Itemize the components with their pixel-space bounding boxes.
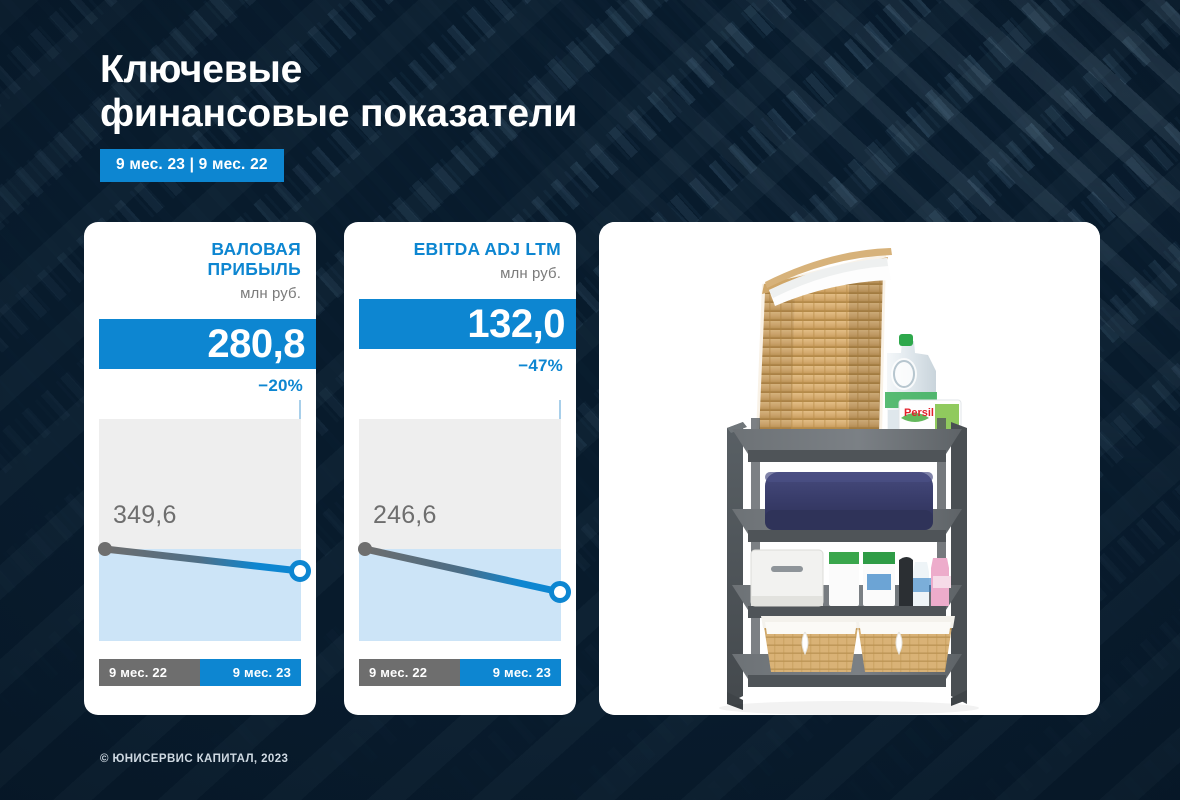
chart-legend: 9 мес. 22 9 мес. 23 bbox=[359, 659, 561, 686]
legend-current: 9 мес. 23 bbox=[200, 659, 301, 686]
period-badge: 9 мес. 23 | 9 мес. 22 bbox=[100, 149, 284, 182]
delta-row: −47% bbox=[344, 349, 576, 376]
card-header: ВАЛОВАЯ ПРИБЫЛЬ млн руб. bbox=[84, 222, 316, 302]
metric-card-ebitda: EBITDA ADJ LTM млн руб. 132,0 −47% 246,6 bbox=[344, 222, 576, 715]
laundry-shelf-illustration: Persil bbox=[599, 222, 1100, 715]
chart-point-curr bbox=[292, 563, 309, 580]
card-header: EBITDA ADJ LTM млн руб. bbox=[344, 222, 576, 282]
photo-card: Persil bbox=[599, 222, 1100, 715]
metric-value: 132,0 bbox=[467, 304, 565, 344]
card-unit: млн руб. bbox=[99, 285, 301, 302]
chart-point-prev bbox=[358, 542, 372, 556]
value-bar: 132,0 bbox=[359, 299, 576, 349]
mini-chart: 349,6 bbox=[99, 419, 301, 641]
chart-line-svg bbox=[359, 419, 561, 641]
chart-line-svg bbox=[99, 419, 301, 641]
value-bar: 280,8 bbox=[99, 319, 316, 369]
metric-value: 280,8 bbox=[207, 324, 305, 364]
copyright-text: © ЮНИСЕРВИС КАПИТАЛ, 2023 bbox=[100, 753, 288, 765]
card-unit: млн руб. bbox=[359, 265, 561, 282]
delta-badge: −20% bbox=[258, 376, 303, 395]
card-title: EBITDA ADJ LTM bbox=[359, 240, 561, 260]
cleaning-products bbox=[829, 552, 951, 606]
mini-chart: 246,6 bbox=[359, 419, 561, 641]
metric-card-gross-profit: ВАЛОВАЯ ПРИБЫЛЬ млн руб. 280,8 −20% 349,… bbox=[84, 222, 316, 715]
header: Ключевые финансовые показатели 9 мес. 23… bbox=[100, 48, 740, 182]
navy-towels bbox=[765, 472, 933, 530]
delta-badge: −47% bbox=[518, 356, 563, 375]
chart-point-curr bbox=[552, 584, 569, 601]
laundry-shelf-photo: Persil bbox=[599, 222, 1100, 715]
legend-previous: 9 мес. 22 bbox=[359, 659, 460, 686]
chart-point-prev bbox=[98, 542, 112, 556]
delta-row: −20% bbox=[84, 369, 316, 396]
storage-box bbox=[751, 550, 823, 606]
legend-current: 9 мес. 23 bbox=[460, 659, 561, 686]
svg-text:Persil: Persil bbox=[904, 407, 934, 419]
card-title: ВАЛОВАЯ ПРИБЫЛЬ bbox=[99, 240, 301, 280]
chart-legend: 9 мес. 22 9 мес. 23 bbox=[99, 659, 301, 686]
page-title: Ключевые финансовые показатели bbox=[100, 48, 740, 135]
legend-previous: 9 мес. 22 bbox=[99, 659, 200, 686]
